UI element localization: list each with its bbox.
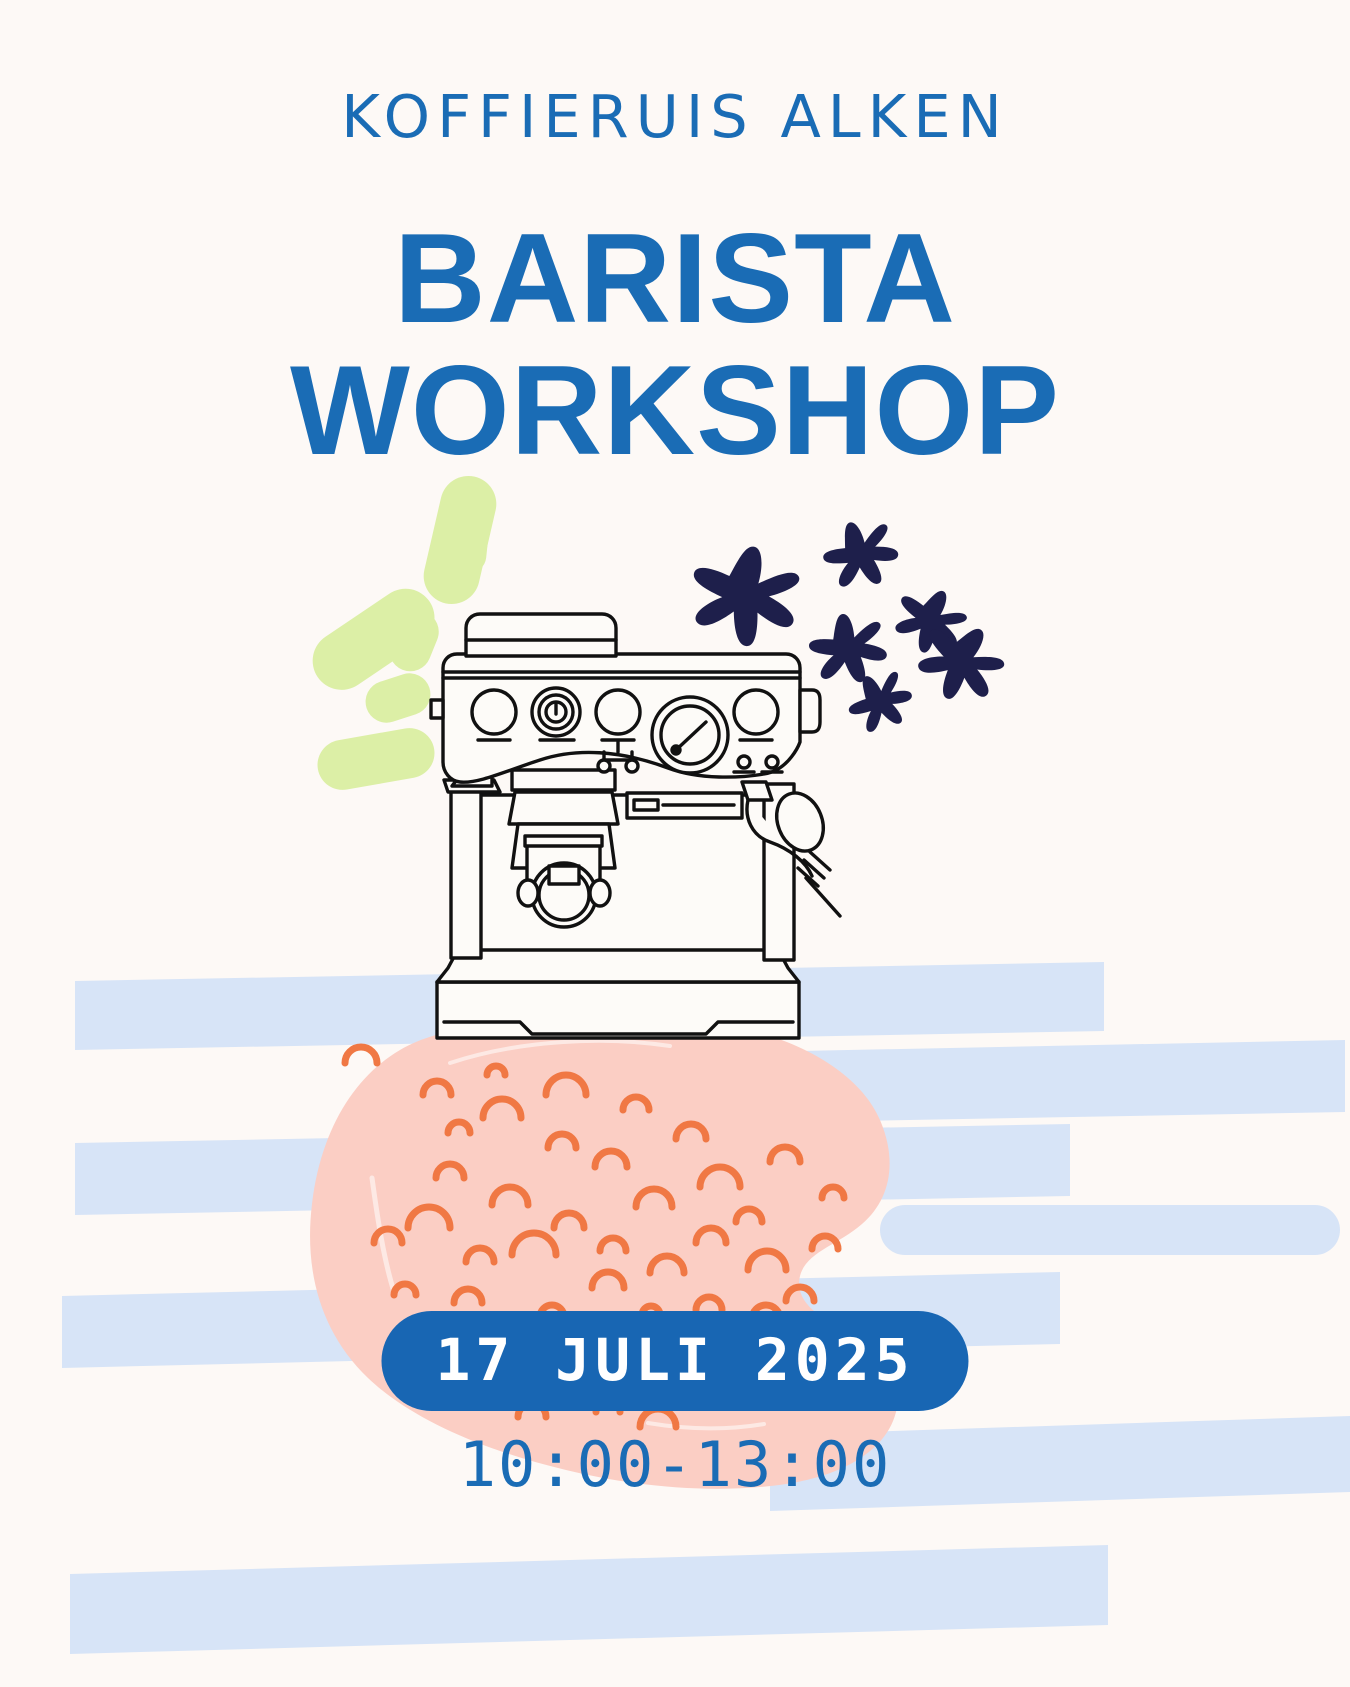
date-badge: 17 JULI 2025 [381,1311,968,1411]
time-text: 10:00-13:00 [459,1434,892,1496]
text-layer: KOFFIERUIS ALKEN BARISTA WORKSHOP 17 JUL… [0,0,1350,1687]
poster-canvas: KOFFIERUIS ALKEN BARISTA WORKSHOP 17 JUL… [0,0,1350,1687]
page-title-line-2: WORKSHOP [0,344,1350,476]
page-title-line-1: BARISTA [0,212,1350,344]
poster-kicker: KOFFIERUIS ALKEN [0,82,1350,151]
page-title: BARISTA WORKSHOP [0,212,1350,476]
